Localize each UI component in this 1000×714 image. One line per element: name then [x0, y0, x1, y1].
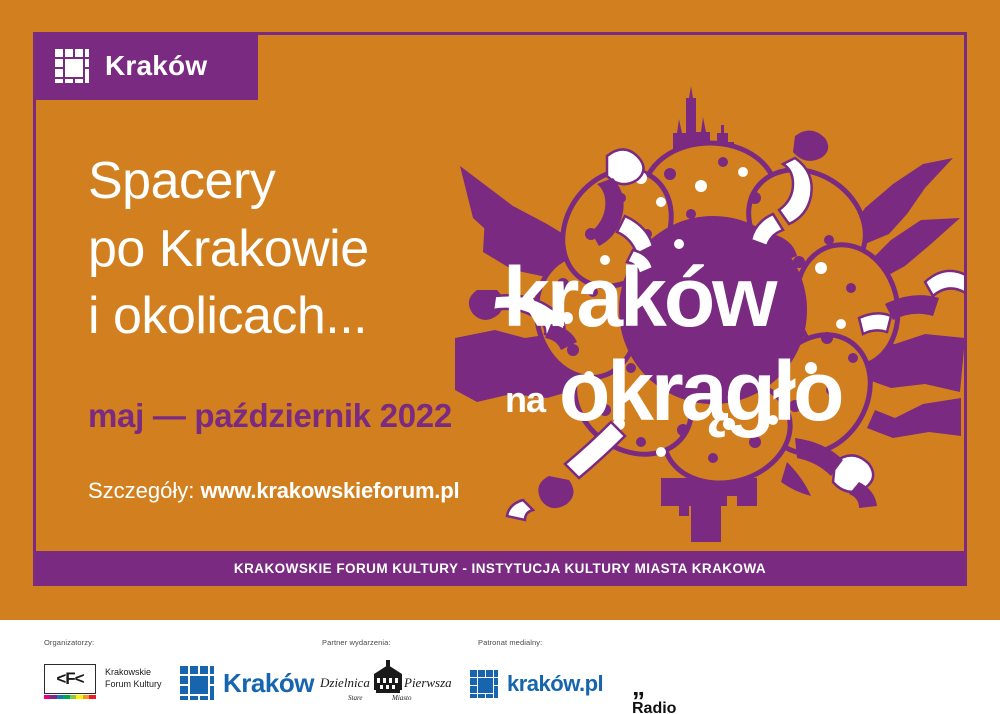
footer-label-partner: Partner wydarzenia:: [322, 638, 391, 647]
kfk-color-bar-icon: [44, 695, 96, 699]
kfk-name-line-2: Forum Kultury: [105, 679, 162, 691]
illustration-logo-line1: kraków: [503, 250, 778, 344]
illustration-logo-line2: okrągło: [559, 344, 842, 438]
krakow-grid-logo-icon: [180, 666, 214, 700]
footer-logos: Organizatorzy: Partner wydarzenia: Patro…: [0, 620, 1000, 714]
radio-quote-icon: ”: [632, 687, 642, 714]
dzielnica-word-right: Pierwsza: [403, 675, 452, 690]
dzielnica-sub-left: Stare: [348, 694, 363, 702]
details-url[interactable]: www.krakowskieforum.pl: [201, 478, 460, 503]
krakow-city-label: Kraków: [223, 668, 314, 699]
footer-label-patronat: Patronat medialny:: [478, 638, 542, 647]
headline-line-1: Spacery: [88, 148, 488, 216]
kfk-name-line-1: Krakowskie: [105, 667, 162, 679]
krakow-brand-label: Kraków: [105, 50, 207, 82]
dzielnica-word-left: Dzielnica: [319, 675, 370, 690]
details-line: Szczegóły: www.krakowskieforum.pl: [88, 478, 459, 504]
illustration-logo-na: na: [505, 379, 547, 420]
krakow-grid-logo-icon: [470, 670, 498, 698]
poster: kraków na okrągło: [0, 0, 1000, 714]
dzielnica-sub-right: Miasto: [391, 694, 412, 702]
kfk-mark-icon: <F<: [44, 664, 96, 694]
krakow-pl-label: kraków.pl: [507, 671, 603, 697]
kfk-mark-text: <F<: [56, 669, 83, 689]
page-title: Spacery po Krakowie i okolicach...: [88, 148, 488, 351]
obwarzanek-illustration: kraków na okrągło: [455, 38, 965, 543]
krakow-brand-badge: Kraków: [33, 32, 258, 100]
logo-radio-krakow[interactable]: ” Radio Kraków: [632, 700, 1000, 714]
orange-background-panel: kraków na okrągło: [0, 0, 1000, 620]
institution-strip: KRAKOWSKIE FORUM KULTURY - INSTYTUCJA KU…: [33, 551, 967, 586]
footer-label-organizatorzy: Organizatorzy:: [44, 638, 94, 647]
logo-dzielnica-stare-miasto[interactable]: Dzielnica Pierwsza Stare Miasto: [318, 660, 458, 702]
headline-line-2: po Krakowie: [88, 216, 488, 284]
logo-krakow-pl[interactable]: kraków.pl: [470, 670, 603, 698]
krakow-grid-logo-icon: [55, 49, 89, 83]
event-dateline: maj — październik 2022: [88, 397, 452, 435]
kfk-name: Krakowskie Forum Kultury: [105, 667, 162, 690]
headline-line-3: i okolicach...: [88, 283, 488, 351]
institution-strip-text: KRAKOWSKIE FORUM KULTURY - INSTYTUCJA KU…: [234, 561, 766, 576]
details-prefix: Szczegóły:: [88, 478, 194, 503]
logo-krakow-city[interactable]: Kraków: [180, 666, 314, 700]
logo-krakowskie-forum-kultury[interactable]: <F< Krakowskie Forum Kultury: [44, 664, 162, 694]
radio-line-1: Radio: [632, 700, 1000, 714]
